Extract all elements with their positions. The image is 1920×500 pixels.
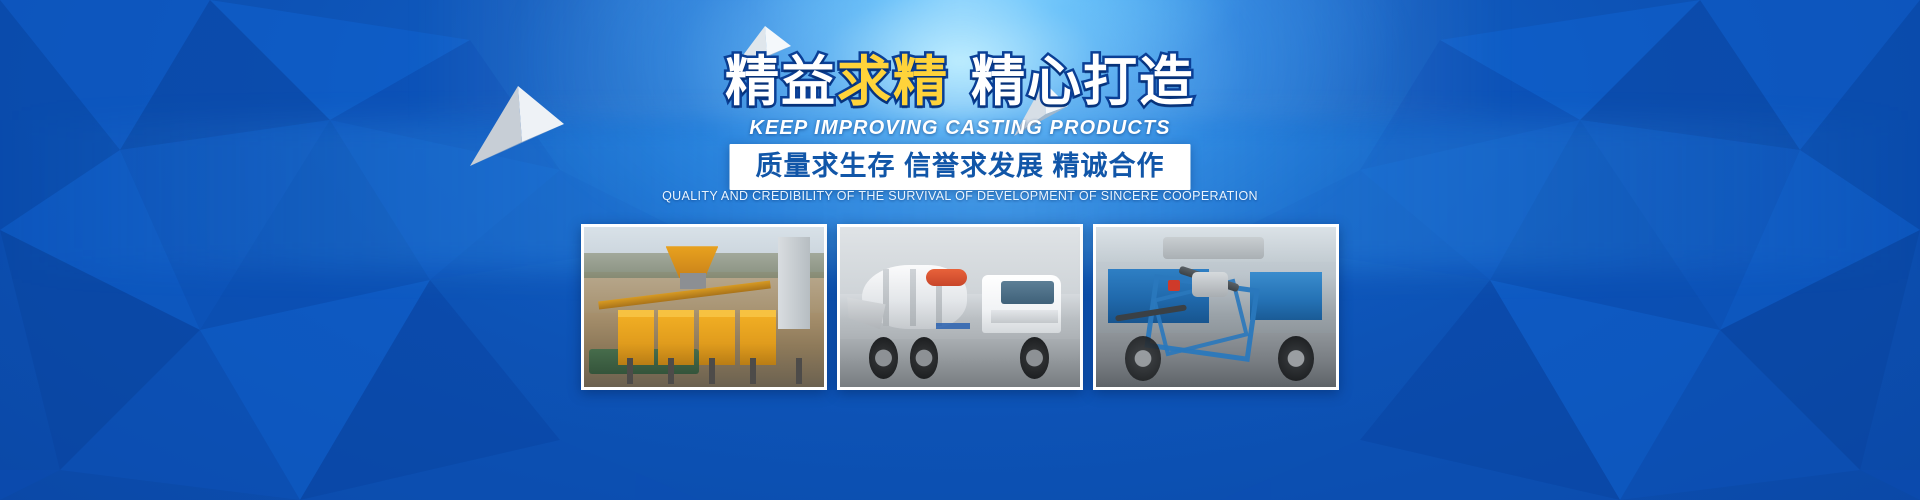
headline-char-3: 求 [837,52,893,112]
headline-char-4: 精 [893,52,949,112]
photo-concrete-batching-plant [581,224,827,390]
slogan-band: 质量求生存 信誉求发展 精诚合作 [729,144,1190,190]
photo-1-image [584,227,824,387]
headline-subtitle-english: KEEP IMPROVING CASTING PRODUCTS [0,116,1920,140]
photo-concrete-mixer-truck [837,224,1083,390]
headline-char-5: 精 [971,52,1027,112]
headline-char-2: 益 [781,52,837,112]
photo-3-image [1096,227,1336,387]
headline-char-1: 精 [725,52,781,112]
headline-char-7: 打 [1083,52,1139,112]
photo-industrial-mixing-equipment [1093,224,1339,390]
slogan-band-text: 质量求生存 信誉求发展 精诚合作 [755,151,1164,182]
promotional-banner: 精益求精精心打造 KEEP IMPROVING CASTING PRODUCTS… [0,0,1920,500]
photo-strip [581,224,1339,390]
photo-2-image [840,227,1080,387]
headline: 精益求精精心打造 [0,52,1920,114]
headline-char-6: 心 [1027,52,1083,112]
headline-char-8: 造 [1139,52,1195,112]
slogan-subtitle-english: QUALITY AND CREDIBILITY OF THE SURVIVAL … [0,188,1920,204]
